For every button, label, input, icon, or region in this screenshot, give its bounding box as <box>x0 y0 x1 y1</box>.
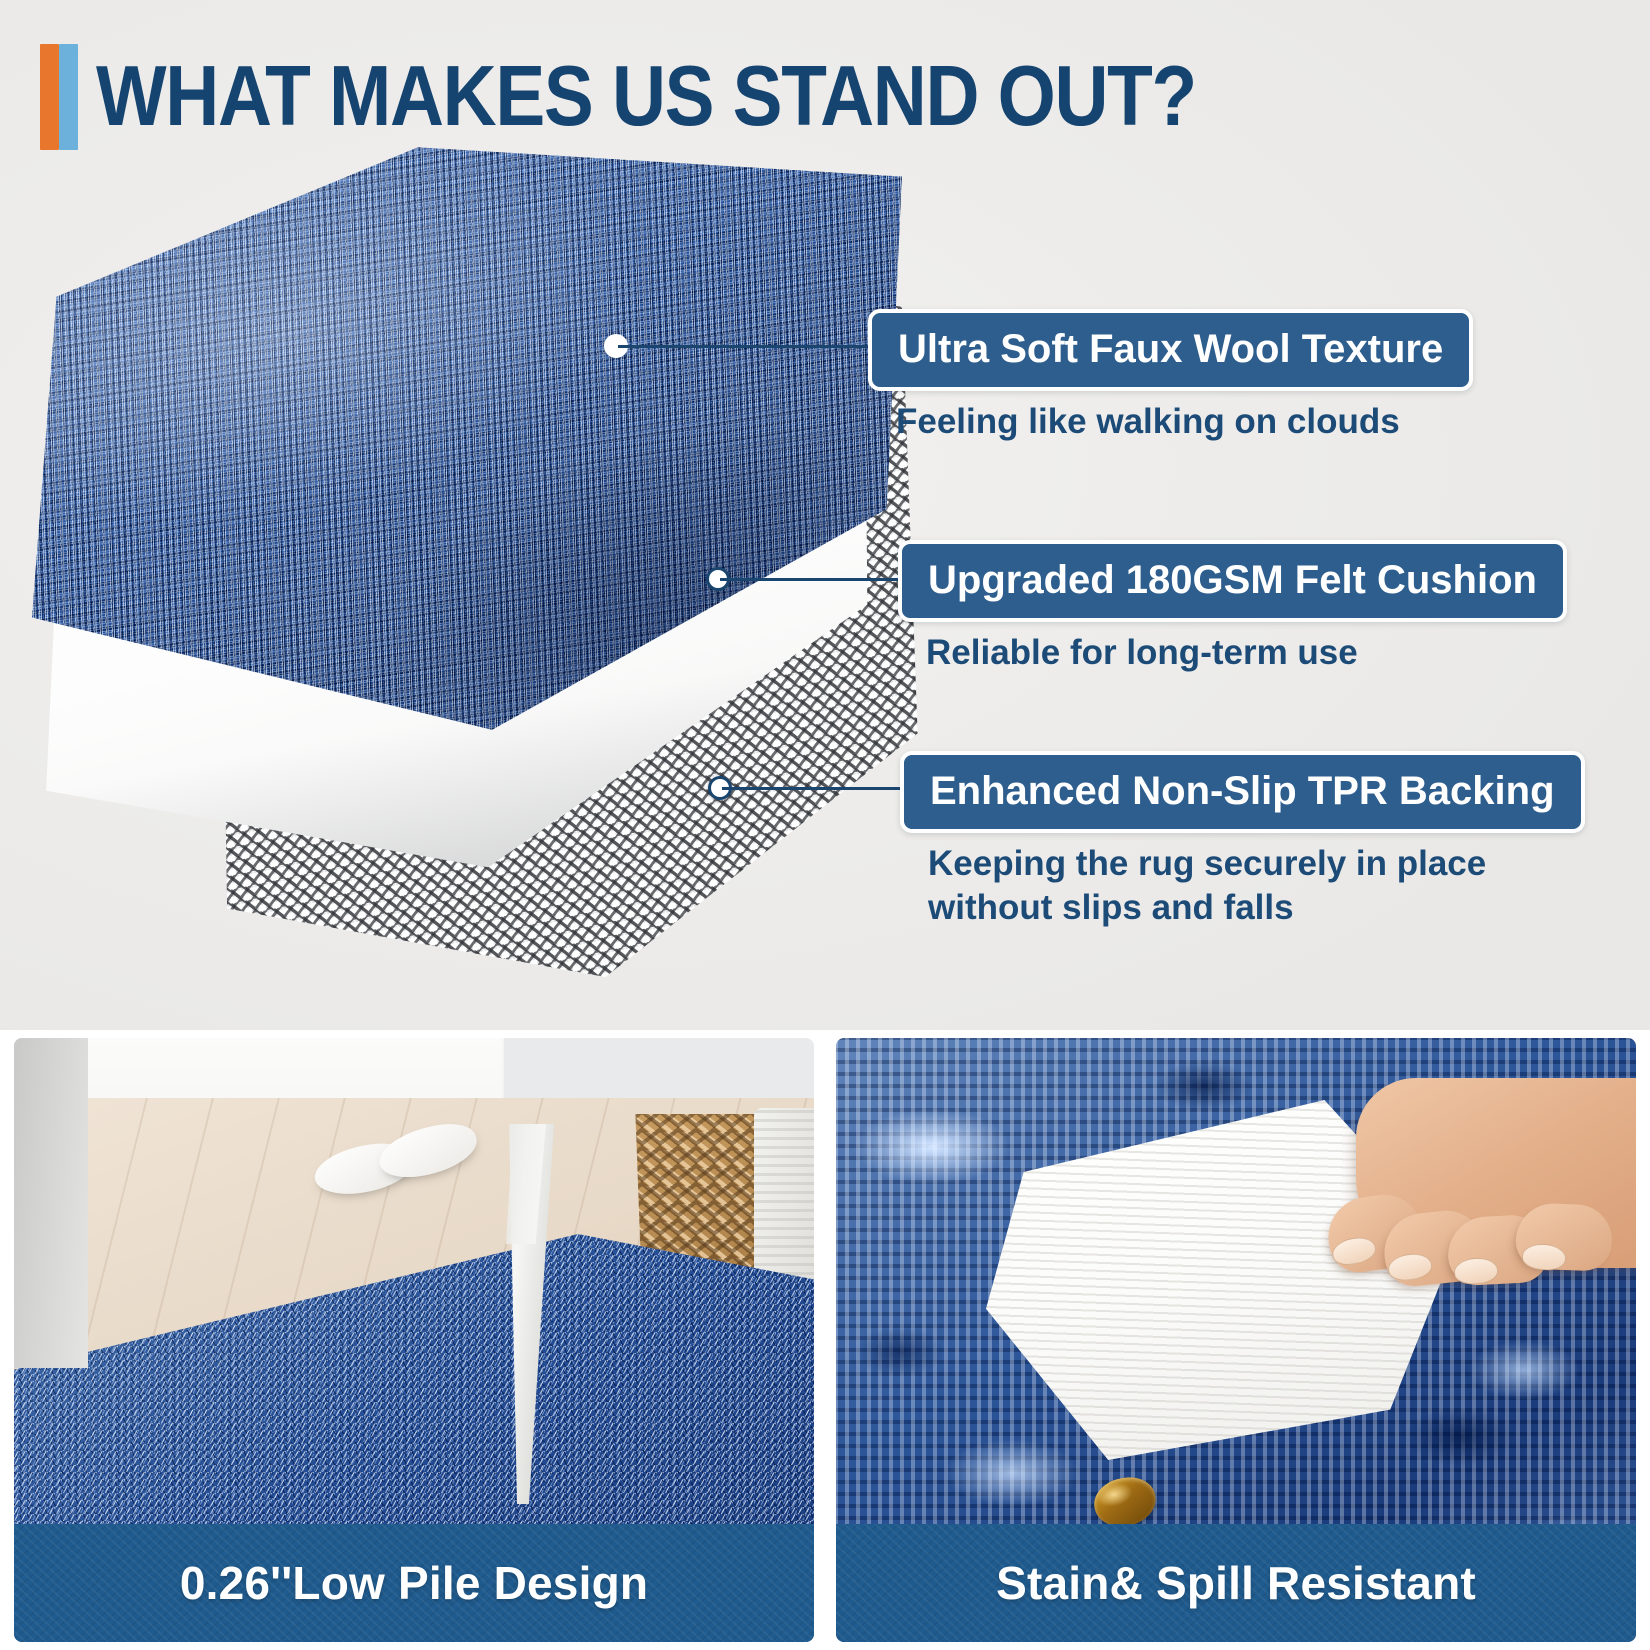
page-title: WHAT MAKES US STAND OUT? <box>40 42 1346 152</box>
photo-caption-low-pile-text: 0.26''Low Pile Design <box>180 1556 648 1610</box>
leader-stroke <box>722 787 906 790</box>
hand <box>1266 1078 1636 1378</box>
photo-panel-stain-resistant: Stain& Spill Resistant <box>836 1038 1636 1642</box>
layer-diagram-panel: WHAT MAKES US STAND OUT? <box>0 0 1650 1030</box>
door-frame <box>14 1038 88 1368</box>
page-title-text: WHAT MAKES US STAND OUT? <box>96 47 1196 147</box>
callout-subtitle-tpr-backing: Keeping the rug securely in place withou… <box>928 842 1568 930</box>
callout-faux-wool: Ultra Soft Faux Wool Texture Feeling lik… <box>868 309 1473 444</box>
photo-caption-stain-resistant-text: Stain& Spill Resistant <box>996 1556 1476 1610</box>
faux-wool-texture <box>9 71 921 868</box>
white-slippers <box>314 1128 489 1198</box>
leader-stroke <box>720 578 904 581</box>
leader-stroke <box>618 345 886 348</box>
callout-title-tpr-backing: Enhanced Non-Slip TPR Backing <box>900 751 1585 833</box>
photo-caption-stain-resistant: Stain& Spill Resistant <box>836 1524 1636 1642</box>
callout-tpr-backing: Enhanced Non-Slip TPR Backing Keeping th… <box>900 751 1585 930</box>
accent-bar-orange <box>40 44 59 150</box>
callout-title-faux-wool: Ultra Soft Faux Wool Texture <box>868 309 1473 391</box>
photo-panel-low-pile: 0.26''Low Pile Design <box>14 1038 814 1642</box>
rug-layer-faux-wool-face <box>20 140 910 800</box>
leader-line-tpr-backing <box>708 785 906 791</box>
photo-caption-low-pile: 0.26''Low Pile Design <box>14 1524 814 1642</box>
leader-line-faux-wool <box>604 343 886 349</box>
callout-subtitle-felt-cushion: Reliable for long-term use <box>926 631 1566 675</box>
callout-felt-cushion: Upgraded 180GSM Felt Cushion Reliable fo… <box>898 540 1567 675</box>
leader-line-felt-cushion <box>706 576 904 582</box>
callout-subtitle-faux-wool: Feeling like walking on clouds <box>896 400 1473 444</box>
callout-title-felt-cushion: Upgraded 180GSM Felt Cushion <box>898 540 1567 622</box>
accent-bar-blue <box>59 44 78 150</box>
exploded-rug-layer-diagram <box>0 140 900 1030</box>
infographic-page: WHAT MAKES US STAND OUT? <box>0 0 1650 1650</box>
